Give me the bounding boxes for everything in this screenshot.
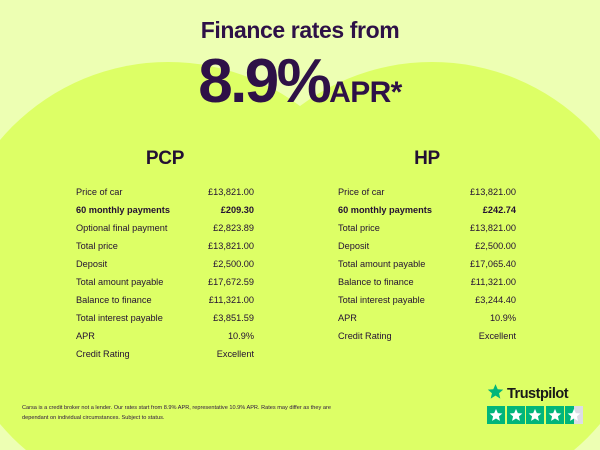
table-row: Deposit£2,500.00 (76, 255, 254, 273)
trustpilot-stars (487, 406, 587, 424)
row-label: Total interest payable (76, 309, 163, 327)
table-row: Total interest payable£3,244.40 (338, 291, 516, 309)
row-value: £3,244.40 (475, 291, 516, 309)
disclaimer-text: Carsa is a credit broker not a lender. O… (22, 404, 342, 423)
row-label: Balance to finance (338, 273, 414, 291)
row-label: Credit Rating (76, 345, 130, 363)
row-value: Excellent (479, 327, 516, 345)
table-row: Price of car£13,821.00 (76, 183, 254, 201)
row-label: Total amount payable (338, 255, 425, 273)
table-row: 60 monthly payments£209.30 (76, 201, 254, 219)
rate-value: 8.9% (198, 47, 329, 116)
trustpilot-star-icon (546, 406, 564, 424)
trustpilot-star-icon (487, 406, 505, 424)
table-body-pcp: Price of car£13,821.0060 monthly payment… (40, 183, 290, 363)
trustpilot-logo: Trustpilot (487, 385, 587, 403)
row-value: £11,321.00 (471, 273, 516, 291)
row-value: £2,823.89 (213, 219, 254, 237)
row-value: 10.9% (228, 327, 254, 345)
table-row: Credit RatingExcellent (338, 327, 516, 345)
headline-rate: 8.9%APR* (0, 51, 600, 113)
row-label: Total price (76, 237, 118, 255)
row-value: £17,065.40 (470, 255, 516, 273)
table-row: Credit RatingExcellent (76, 345, 254, 363)
row-label: Deposit (76, 255, 107, 273)
trustpilot-rating[interactable]: Trustpilot (487, 385, 587, 424)
finance-table-hp: HP Price of car£13,821.0060 monthly paym… (302, 148, 552, 345)
table-row: Total interest payable£3,851.59 (76, 309, 254, 327)
table-row: Total price£13,821.00 (338, 219, 516, 237)
row-label: 60 monthly payments (76, 201, 170, 219)
row-label: Price of car (338, 183, 384, 201)
row-value: 10.9% (490, 309, 516, 327)
row-value: £242.74 (483, 201, 516, 219)
row-value: £209.30 (221, 201, 254, 219)
table-row: 60 monthly payments£242.74 (338, 201, 516, 219)
table-row: Deposit£2,500.00 (338, 237, 516, 255)
promo-banner: Finance rates from 8.9%APR* PCP Price of… (0, 0, 600, 450)
row-label: Total amount payable (76, 273, 163, 291)
row-value: £13,821.00 (470, 183, 516, 201)
row-label: Total price (338, 219, 380, 237)
rate-suffix: APR* (329, 76, 402, 109)
banner-header: Finance rates from 8.9%APR* (0, 0, 600, 113)
row-value: £13,821.00 (470, 219, 516, 237)
table-row: Total amount payable£17,672.59 (76, 273, 254, 291)
table-row: APR10.9% (338, 309, 516, 327)
table-row: Price of car£13,821.00 (338, 183, 516, 201)
finance-table-pcp: PCP Price of car£13,821.0060 monthly pay… (40, 148, 290, 363)
row-label: Deposit (338, 237, 369, 255)
row-label: 60 monthly payments (338, 201, 432, 219)
row-label: Total interest payable (338, 291, 425, 309)
row-value: £13,821.00 (208, 237, 254, 255)
row-label: APR (338, 309, 357, 327)
row-value: Excellent (217, 345, 254, 363)
table-row: Balance to finance£11,321.00 (338, 273, 516, 291)
panel-title-hp: HP (302, 148, 552, 170)
row-value: £11,321.00 (209, 291, 254, 309)
table-row: Balance to finance£11,321.00 (76, 291, 254, 309)
trustpilot-star-icon (526, 406, 544, 424)
row-label: Optional final payment (76, 219, 167, 237)
row-label: Balance to finance (76, 291, 152, 309)
trustpilot-star-icon (565, 406, 583, 424)
trustpilot-star-icon (507, 406, 525, 424)
table-body-hp: Price of car£13,821.0060 monthly payment… (302, 183, 552, 345)
row-value: £13,821.00 (208, 183, 254, 201)
row-value: £2,500.00 (475, 237, 516, 255)
table-row: Total price£13,821.00 (76, 237, 254, 255)
table-row: Total amount payable£17,065.40 (338, 255, 516, 273)
table-row: APR10.9% (76, 327, 254, 345)
trustpilot-wordmark: Trustpilot (507, 386, 568, 402)
panel-title-pcp: PCP (40, 148, 290, 170)
row-label: APR (76, 327, 95, 345)
table-row: Optional final payment£2,823.89 (76, 219, 254, 237)
row-value: £3,851.59 (213, 309, 254, 327)
row-value: £17,672.59 (208, 273, 254, 291)
trustpilot-star-icon (487, 383, 504, 405)
row-label: Credit Rating (338, 327, 392, 345)
page-title: Finance rates from (0, 19, 600, 42)
row-value: £2,500.00 (213, 255, 254, 273)
row-label: Price of car (76, 183, 122, 201)
